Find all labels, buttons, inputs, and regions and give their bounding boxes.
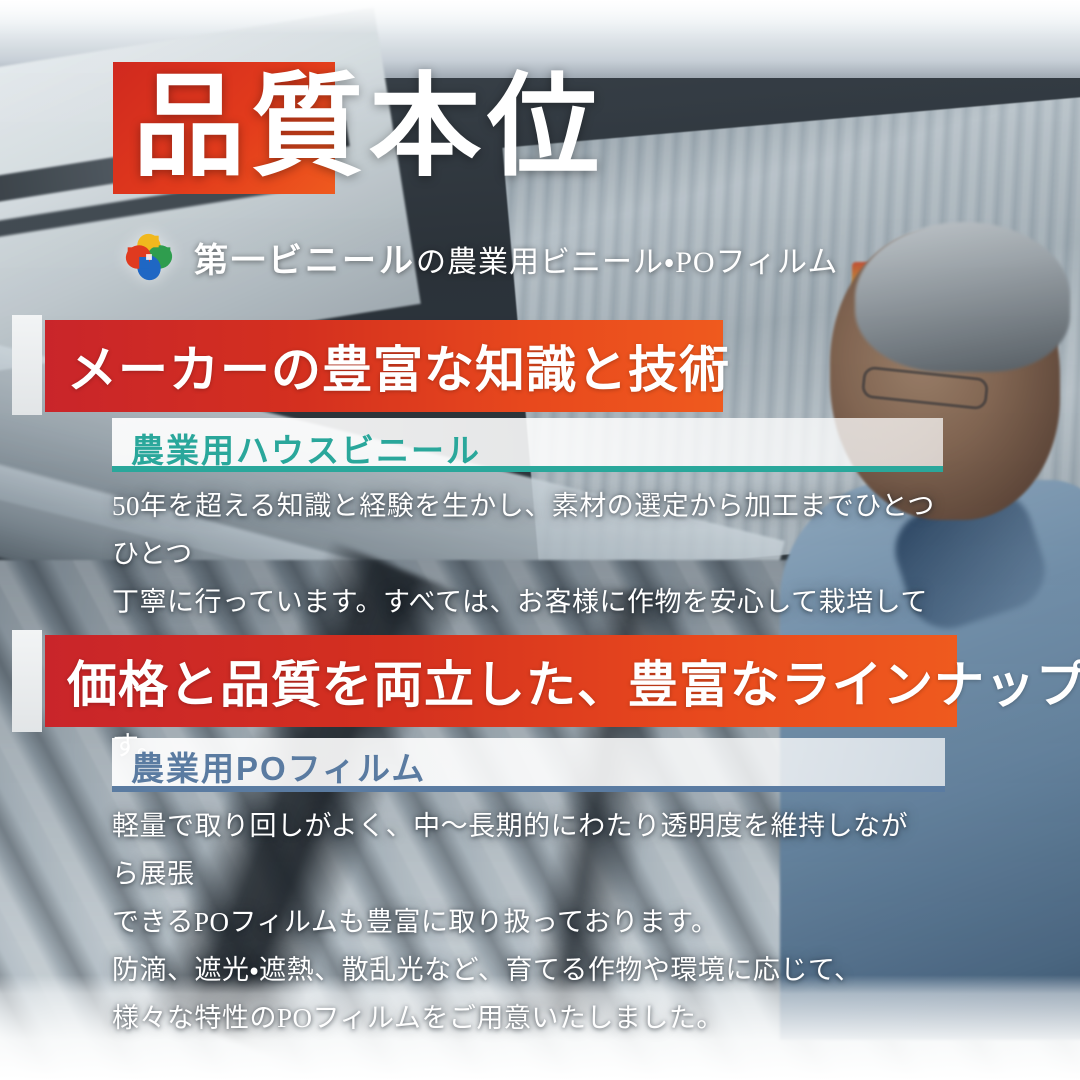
ribbon-heading-label: メーカーの豊富な知識と技術 [45, 330, 730, 402]
ribbon-heading-label: 価格と品質を両立した、豊富なラインナップ [45, 645, 1080, 717]
subheading-section-one: 農業用ハウスビニール [131, 424, 481, 472]
brand-row: 第一ビニールの農業用ビニール・POフィルム [118, 226, 838, 288]
brand-tagline: 第一ビニールの農業用ビニール・POフィルム [194, 233, 838, 282]
brand-name: 第一ビニール [194, 243, 416, 280]
page-title: 品質本位 [133, 66, 605, 190]
body-paragraph-section-two: 軽量で取り回しがよく、中〜長期的にわたり透明度を維持しながら展張 できるPOフィ… [112, 802, 932, 1042]
promotional-banner: 品質本位 第一ビニールの農業用ビニール・POフィルム [0, 0, 1080, 1080]
ribbon-heading-section-one: メーカーの豊富な知識と技術 [45, 320, 723, 412]
banner-content: 品質本位 第一ビニールの農業用ビニール・POフィルム [0, 0, 1080, 1080]
ribbon-heading-section-two: 価格と品質を両立した、豊富なラインナップ [45, 635, 957, 727]
subheading-section-two: 農業用POフィルム [131, 742, 426, 790]
brand-tagline-suffix: の農業用ビニール・POフィルム [416, 246, 838, 279]
accent-bar-section-one [12, 315, 42, 415]
daiichi-vinyl-pinwheel-logo [118, 226, 180, 288]
accent-bar-section-two [12, 630, 42, 732]
